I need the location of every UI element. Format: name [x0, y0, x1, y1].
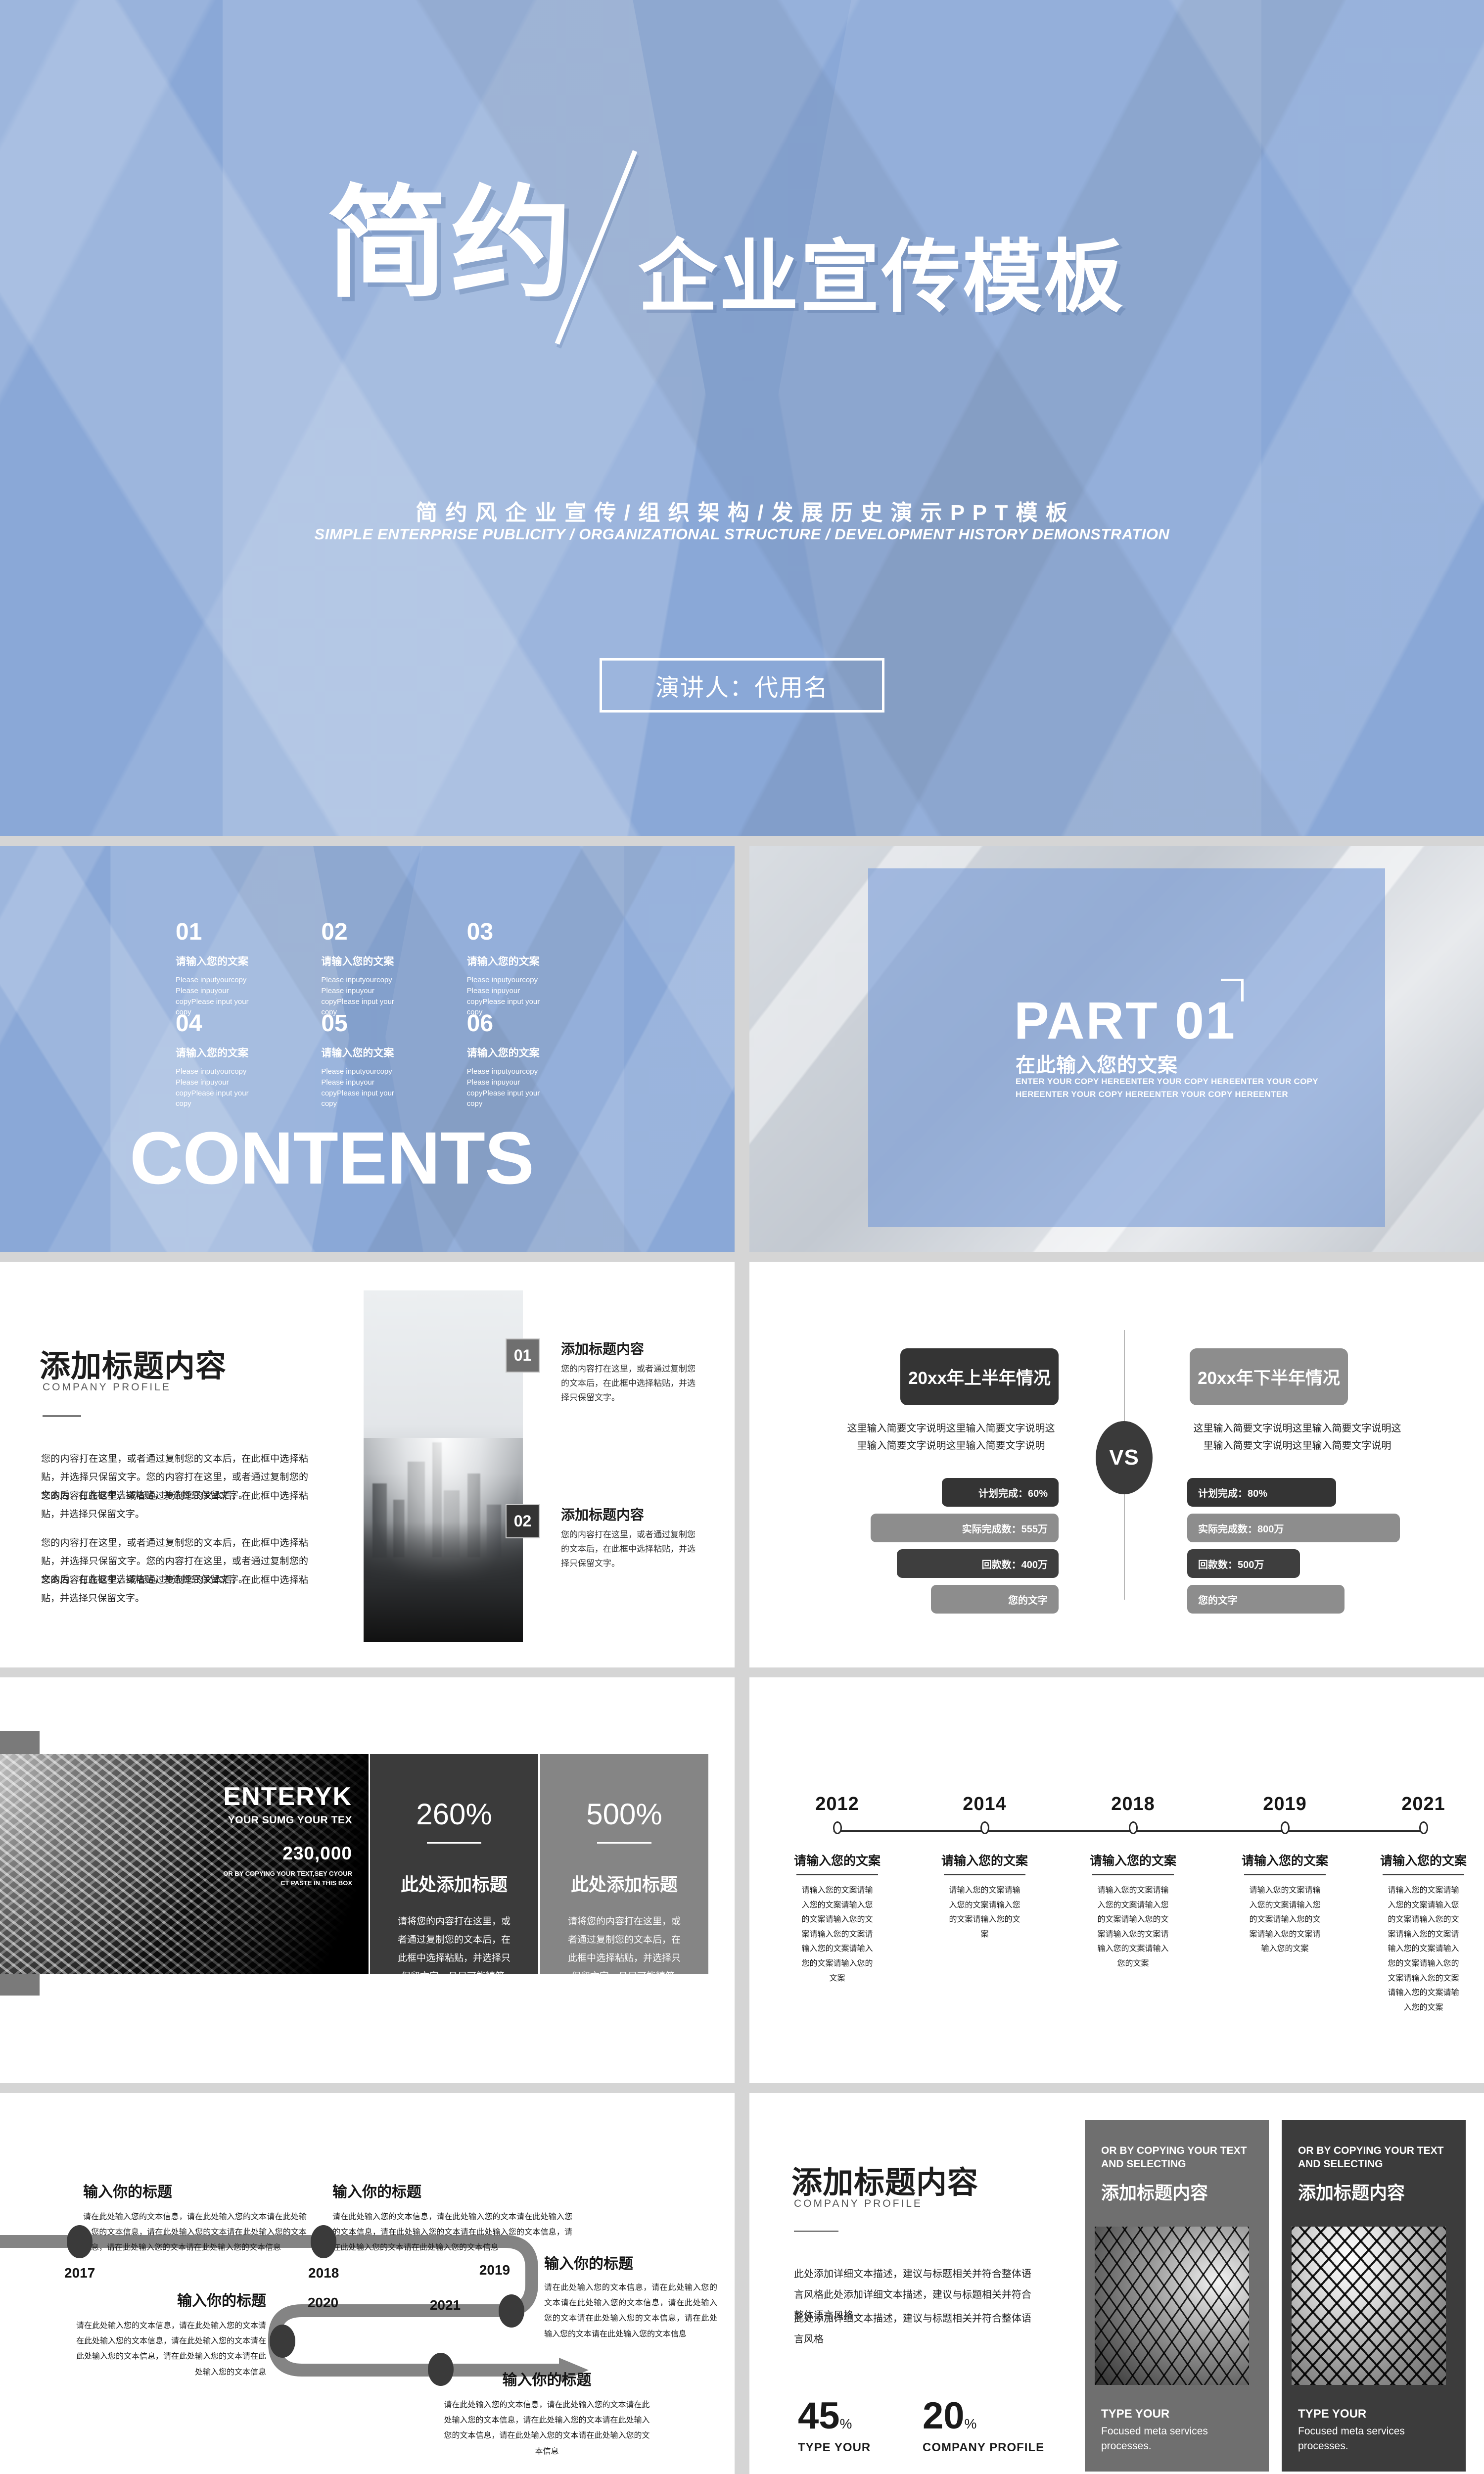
cover-subtitle-cn: 简 约 风 企 业 宣 传 / 组 织 架 构 / 发 展 历 史 演 示 P …	[0, 495, 1484, 526]
timeline-dot-icon	[1281, 1821, 1290, 1834]
profile2-card-foot-desc: Focused meta services processes.	[1101, 2424, 1252, 2454]
profile2-card[interactable]: OR BY COPYING YOUR TEXT AND SELECTING 添加…	[1282, 2120, 1466, 2472]
profile2-metric-label: COMPANY PROFILE	[923, 2441, 1044, 2455]
profile2-card-title: 添加标题内容	[1298, 2179, 1405, 2204]
contents-item-number: 03	[467, 920, 591, 944]
contents-item-number: 05	[321, 1012, 445, 1036]
profile2-metric-unit: %	[840, 2416, 852, 2431]
timeline-year: 2018	[1090, 1794, 1176, 1815]
profile2-card-foot-title: TYPE YOUR	[1298, 2407, 1366, 2421]
cover-title-left: 简约	[326, 183, 575, 304]
profile2-card-foot-title: TYPE YOUR	[1101, 2407, 1169, 2421]
part-subtitle-en-line2: HEREENTER YOUR COPY HEREENTER YOUR COPY …	[1016, 1090, 1288, 1099]
vs-bar: 您的文字	[931, 1585, 1059, 1614]
contents-item[interactable]: 02 请输入您的文案 Please inputyourcopy Please i…	[321, 920, 445, 1012]
timeline-desc: 请输入您的文案请输入您的文案请输入您的文案请输入您的文案请输入您的文案请输入您的…	[1248, 1883, 1323, 1956]
stats-brand-text: ENTERYK YOUR SUMG YOUR TEX 230,000 OR BY…	[223, 1784, 352, 1887]
roadmap-node-dot	[311, 2225, 336, 2258]
profile-point-desc: 您的内容打在这里，或者通过复制您的文本后，在此框中选择粘贴，并选择只保留文字。	[561, 1362, 700, 1405]
timeline-title: 请输入您的文案	[1090, 1851, 1176, 1869]
stats-small-line-1: OR BY COPYING YOUR TEXT,SEY CYOUR	[223, 1870, 352, 1877]
timeline-node[interactable]: 2021 请输入您的文案 请输入您的文案请输入您的文案请输入您的文案请输入您的文…	[1380, 1794, 1467, 2015]
vs-right-header-label: 20xx年下半年情况	[1198, 1364, 1340, 1389]
slide-vs-comparison[interactable]: VS 20xx年上半年情况 这里输入简要文字说明这里输入简要文字说明这里输入简要…	[749, 1262, 1484, 1667]
stats-card-title: 此处添加标题	[370, 1870, 538, 1896]
vs-right-bars: 计划完成：80% 实际完成数：800万 回款数：500万 您的文字	[1187, 1478, 1400, 1614]
profile-point-badge: 02	[506, 1504, 540, 1538]
profile-eyebrow: COMPANY PROFILE	[43, 1381, 171, 1393]
slide-contents[interactable]: 01 请输入您的文案 Please inputyourcopy Please i…	[0, 846, 735, 1252]
contents-item-desc: Please inputyourcopy Please inpuyour cop…	[176, 1066, 250, 1109]
contents-item-number: 02	[321, 920, 445, 944]
contents-item[interactable]: 03 请输入您的文案 Please inputyourcopy Please i…	[467, 920, 591, 1012]
stats-brand-panel[interactable]: ENTERYK YOUR SUMG YOUR TEX 230,000 OR BY…	[0, 1754, 369, 1974]
profile2-divider	[794, 2231, 838, 2232]
vs-bar-label: 实际完成数：555万	[962, 1521, 1048, 1535]
roadmap-step-title: 输入你的标题	[332, 2180, 575, 2201]
contents-item-number: 06	[467, 1012, 591, 1036]
vs-bar-label: 回款数：400万	[982, 1557, 1048, 1571]
vs-bar: 回款数：400万	[897, 1549, 1059, 1578]
timeline-node[interactable]: 2018 请输入您的文案 请输入您的文案请输入您的文案请输入您的文案请输入您的文…	[1090, 1794, 1176, 1971]
vs-badge-label: VS	[1109, 1445, 1139, 1470]
vs-bar: 计划完成：60%	[942, 1478, 1059, 1507]
profile2-metric: 20% COMPANY PROFILE	[923, 2397, 1044, 2455]
profile2-card-image	[1095, 2227, 1249, 2385]
cover-title-right: 企业宣传模板	[638, 238, 1125, 317]
timeline-title: 请输入您的文案	[794, 1851, 881, 1869]
timeline-rule	[1092, 1874, 1174, 1875]
timeline-dot-icon	[1419, 1821, 1428, 1834]
contents-item[interactable]: 04 请输入您的文案 Please inputyourcopy Please i…	[176, 1012, 300, 1103]
timeline-desc: 请输入您的文案请输入您的文案请输入您的文案请输入您的文案	[947, 1883, 1022, 1942]
profile-paragraph-4: 您的内容打在这里，或者通过复制您的文本后，在此框中选择粘贴，并选择只保留文字。	[41, 1571, 308, 1608]
timeline-rule	[1383, 1874, 1464, 1875]
profile2-card-image	[1292, 2227, 1446, 2385]
roadmap-step[interactable]: 输入你的标题 请在此处输入您的文本信息，请在此处输入您的文本请在此处输入您的文本…	[544, 2251, 722, 2342]
roadmap-node-dot	[428, 2353, 454, 2386]
vs-left-header: 20xx年上半年情况	[900, 1348, 1059, 1405]
timeline-year: 2014	[941, 1794, 1028, 1815]
profile-point-desc: 您的内容打在这里，或者通过复制您的文本后，在此框中选择粘贴，并选择只保留文字。	[561, 1528, 700, 1571]
roadmap-step-year: 2020	[301, 2295, 345, 2311]
vs-bar-label: 回款数：500万	[1198, 1557, 1264, 1571]
timeline-node[interactable]: 2014 请输入您的文案 请输入您的文案请输入您的文案请输入您的文案请输入您的文…	[941, 1794, 1028, 1942]
contents-item[interactable]: 06 请输入您的文案 Please inputyourcopy Please i…	[467, 1012, 591, 1103]
stats-card-rule	[597, 1842, 651, 1844]
profile-point-number: 01	[514, 1346, 532, 1365]
stats-card[interactable]: 260% 此处添加标题 请将您的内容打在这里，或者通过复制您的文本后，在此框中选…	[370, 1754, 538, 1974]
timeline-title: 请输入您的文案	[1242, 1851, 1328, 1869]
stats-card-value: 260%	[370, 1800, 538, 1829]
roadmap-step-year: 2017	[64, 2265, 95, 2281]
profile2-metric: 45% TYPE YOUR	[798, 2397, 871, 2455]
timeline-dot-icon	[980, 1821, 989, 1834]
contents-item-title: 请输入您的文案	[321, 1045, 445, 1060]
slide-brand-stats[interactable]: ENTERYK YOUR SUMG YOUR TEX 230,000 OR BY…	[0, 1677, 735, 2083]
ppt-preview-deck: 简约 企业宣传模板 简 约 风 企 业 宣 传 / 组 织 架 构 / 发 展 …	[0, 0, 1484, 2474]
vs-bar-label: 您的文字	[1198, 1592, 1238, 1607]
stats-card-title: 此处添加标题	[540, 1870, 708, 1896]
timeline-dot-icon	[1129, 1821, 1138, 1834]
timeline-node[interactable]: 2019 请输入您的文案 请输入您的文案请输入您的文案请输入您的文案请输入您的文…	[1242, 1794, 1328, 1956]
contents-item-desc: Please inputyourcopy Please inpuyour cop…	[321, 1066, 395, 1109]
part-subtitle-cn: 在此输入您的文案	[1016, 1049, 1178, 1078]
timeline-dot-icon	[833, 1821, 842, 1834]
profile-paragraph-2: 您的内容打在这里，或者通过复制您的文本后，在此框中选择粘贴，并选择只保留文字。	[41, 1487, 308, 1523]
vs-bar: 回款数：500万	[1187, 1549, 1300, 1578]
profile-point-badge: 01	[506, 1338, 540, 1373]
profile2-metric-value: 45	[798, 2395, 840, 2437]
contents-item-title: 请输入您的文案	[176, 1045, 300, 1060]
timeline-year: 2019	[1242, 1794, 1328, 1815]
contents-item[interactable]: 05 请输入您的文案 Please inputyourcopy Please i…	[321, 1012, 445, 1103]
profile2-card[interactable]: OR BY COPYING YOUR TEXT AND SELECTING 添加…	[1085, 2120, 1269, 2472]
cover-subtitle-en: SIMPLE ENTERPRISE PUBLICITY / ORGANIZATI…	[0, 525, 1484, 543]
profile2-metric-value: 20	[923, 2395, 965, 2437]
slide-roadmap[interactable]: 输入你的标题 请在此处输入您的文本信息，请在此处输入您的文本请在此处输入您的文本…	[0, 2093, 735, 2474]
vs-left-bars: 计划完成：60% 实际完成数：555万 回款数：400万 您的文字	[871, 1478, 1059, 1614]
vs-right-header: 20xx年下半年情况	[1190, 1348, 1348, 1405]
stats-small-line-2: CT PASTE IN THIS BOX	[223, 1879, 352, 1887]
vs-bar-label: 计划完成：60%	[978, 1485, 1048, 1500]
contents-item-number: 01	[176, 920, 300, 944]
slide-cover[interactable]: 简约 企业宣传模板 简 约 风 企 业 宣 传 / 组 织 架 构 / 发 展 …	[0, 0, 1484, 836]
profile-point[interactable]: 01 添加标题内容 您的内容打在这里，或者通过复制您的文本后，在此框中选择粘贴，…	[506, 1338, 703, 1405]
contents-item[interactable]: 01 请输入您的文案 Please inputyourcopy Please i…	[176, 920, 300, 1012]
profile-city-image	[364, 1290, 523, 1642]
stats-card-rule	[427, 1842, 481, 1844]
profile2-card-foot-desc: Focused meta services processes.	[1298, 2424, 1449, 2454]
stats-brand-name: ENTERYK	[223, 1784, 352, 1809]
vs-bar-label: 实际完成数：800万	[1198, 1521, 1284, 1535]
stats-card-desc: 请将您的内容打在这里，或者通过复制您的文本后，在此框中选择粘贴，并选择只保留文字…	[394, 1912, 514, 1986]
city-dark-layer	[364, 1522, 523, 1642]
vs-left-desc: 这里输入简要文字说明这里输入简要文字说明这里输入简要文字说明这里输入简要文字说明	[843, 1420, 1059, 1455]
slide-profile-cards[interactable]: 添加标题内容 COMPANY PROFILE 此处添加详细文本描述，建议与标题相…	[749, 2093, 1484, 2474]
slide-company-profile[interactable]: 添加标题内容 COMPANY PROFILE 您的内容打在这里，或者通过复制您的…	[0, 1262, 735, 1667]
profile-title: 添加标题内容	[40, 1341, 227, 1385]
roadmap-step-desc: 请在此处输入您的文本信息，请在此处输入您的文本请在此处输入您的文本信息，请在此处…	[332, 2209, 572, 2256]
vs-bar-label: 您的文字	[1008, 1592, 1048, 1607]
vs-bar: 计划完成：80%	[1187, 1478, 1336, 1507]
vs-bar: 实际完成数：800万	[1187, 1514, 1400, 1542]
timeline-desc: 请输入您的文案请输入您的文案请输入您的文案请输入您的文案请输入您的文案请输入您的…	[800, 1883, 875, 1986]
cover-title: 简约 企业宣传模板	[326, 183, 1217, 346]
timeline-title: 请输入您的文案	[941, 1851, 1028, 1869]
stats-big-number: 230,000	[223, 1843, 352, 1864]
roadmap-step[interactable]: 输入你的标题 请在此处输入您的文本信息，请在此处输入您的文本请在此处输入您的文本…	[439, 2368, 654, 2459]
roadmap-step-title: 输入你的标题	[544, 2251, 722, 2273]
contents-item-desc: Please inputyourcopy Please inpuyour cop…	[467, 1066, 541, 1109]
stats-card-value: 500%	[540, 1800, 708, 1829]
slide-part-divider[interactable]: PART 01 在此输入您的文案 ENTER YOUR COPY HEREENT…	[749, 846, 1484, 1252]
timeline-year: 2012	[794, 1794, 881, 1815]
part-subtitle-en-line1: ENTER YOUR COPY HEREENTER YOUR COPY HERE…	[1016, 1077, 1318, 1087]
profile2-paragraph-2: 此处添加详细文本描述，建议与标题相关并符合整体语言风格	[794, 2308, 1031, 2350]
timeline-desc: 请输入您的文案请输入您的文案请输入您的文案请输入您的文案请输入您的文案请输入您的…	[1096, 1883, 1171, 1971]
contents-item-title: 请输入您的文案	[467, 953, 591, 968]
contents-item-title: 请输入您的文案	[176, 953, 300, 968]
roadmap-step-desc: 请在此处输入您的文本信息，请在此处输入您的文本请在此处输入您的文本信息，请在此处…	[73, 2318, 266, 2380]
vs-right-desc: 这里输入简要文字说明这里输入简要文字说明这里输入简要文字说明这里输入简要文字说明	[1190, 1420, 1405, 1455]
roadmap-step-year: 2021	[423, 2297, 467, 2313]
roadmap-step-title: 输入你的标题	[83, 2180, 311, 2201]
stats-card[interactable]: 500% 此处添加标题 请将您的内容打在这里，或者通过复制您的文本后，在此框中选…	[540, 1754, 708, 1974]
timeline-rule	[944, 1874, 1025, 1875]
timeline-title: 请输入您的文案	[1380, 1851, 1467, 1869]
contents-heading: CONTENTS	[130, 1121, 534, 1195]
profile-divider	[43, 1415, 81, 1417]
vs-bar: 您的文字	[1187, 1585, 1345, 1614]
profile2-metric-unit: %	[965, 2416, 977, 2431]
slide-timeline[interactable]: 2012 请输入您的文案 请输入您的文案请输入您的文案请输入您的文案请输入您的文…	[749, 1677, 1484, 2083]
stats-card-desc: 请将您的内容打在这里，或者通过复制您的文本后，在此框中选择粘贴，并选择只保留文字…	[564, 1912, 685, 1986]
roadmap-step-desc: 请在此处输入您的文本信息，请在此处输入您的文本请在此处输入您的文本信息，请在此处…	[83, 2209, 307, 2256]
roadmap-step-title: 输入你的标题	[439, 2368, 654, 2389]
cover-speaker-label: 演讲人：代用名	[655, 668, 829, 703]
profile-point-title: 添加标题内容	[561, 1504, 703, 1524]
roadmap-step[interactable]: 输入你的标题 请在此处输入您的文本信息，请在此处输入您的文本请在此处输入您的文本…	[83, 2180, 311, 2256]
timeline-year: 2021	[1380, 1794, 1467, 1815]
timeline-node[interactable]: 2012 请输入您的文案 请输入您的文案请输入您的文案请输入您的文案请输入您的文…	[794, 1794, 881, 1986]
profile2-metric-label: TYPE YOUR	[798, 2441, 871, 2455]
vs-bar: 实际完成数：555万	[871, 1514, 1059, 1542]
contents-item-title: 请输入您的文案	[321, 953, 445, 968]
roadmap-step[interactable]: 输入你的标题 请在此处输入您的文本信息，请在此处输入您的文本请在此处输入您的文本…	[332, 2180, 575, 2256]
roadmap-node-dot	[499, 2294, 524, 2328]
vs-left-header-label: 20xx年上半年情况	[908, 1364, 1051, 1389]
contents-grid: 01 请输入您的文案 Please inputyourcopy Please i…	[176, 920, 591, 1103]
stats-brand-sub: YOUR SUMG YOUR TEX	[223, 1814, 352, 1826]
roadmap-node-dot	[67, 2225, 93, 2258]
contents-item-number: 04	[176, 1012, 300, 1036]
vs-badge: VS	[1096, 1421, 1153, 1494]
roadmap-node-dot	[270, 2325, 295, 2358]
timeline-rule	[1244, 1874, 1326, 1875]
vs-bar-label: 计划完成：80%	[1198, 1485, 1267, 1500]
profile-point-number: 02	[514, 1512, 532, 1530]
roadmap-step-year: 2019	[472, 2262, 517, 2278]
profile-point[interactable]: 02 添加标题内容 您的内容打在这里，或者通过复制您的文本后，在此框中选择粘贴，…	[506, 1504, 703, 1571]
roadmap-step-title: 输入你的标题	[73, 2288, 266, 2310]
profile2-card-eyebrow: OR BY COPYING YOUR TEXT AND SELECTING	[1298, 2144, 1449, 2171]
part-label: PART 01	[1014, 995, 1236, 1047]
cover-speaker-box[interactable]: 演讲人：代用名	[600, 658, 884, 713]
profile2-card-eyebrow: OR BY COPYING YOUR TEXT AND SELECTING	[1101, 2144, 1252, 2171]
profile2-title: 添加标题内容	[791, 2157, 978, 2202]
roadmap-step[interactable]: 输入你的标题 请在此处输入您的文本信息，请在此处输入您的文本请在此处输入您的文本…	[73, 2288, 266, 2380]
profile2-card-title: 添加标题内容	[1101, 2179, 1208, 2204]
profile2-eyebrow: COMPANY PROFILE	[794, 2198, 923, 2210]
timeline-rule	[796, 1874, 878, 1875]
profile-point-title: 添加标题内容	[561, 1338, 703, 1358]
roadmap-step-year: 2018	[308, 2265, 339, 2281]
roadmap-step-desc: 请在此处输入您的文本信息，请在此处输入您的文本请在此处输入您的文本信息，请在此处…	[544, 2280, 717, 2342]
timeline-desc: 请输入您的文案请输入您的文案请输入您的文案请输入您的文案请输入您的文案请输入您的…	[1386, 1883, 1461, 2015]
contents-item-title: 请输入您的文案	[467, 1045, 591, 1060]
roadmap-step-desc: 请在此处输入您的文本信息，请在此处输入您的文本请在此处输入您的文本信息，请在此处…	[442, 2397, 652, 2459]
